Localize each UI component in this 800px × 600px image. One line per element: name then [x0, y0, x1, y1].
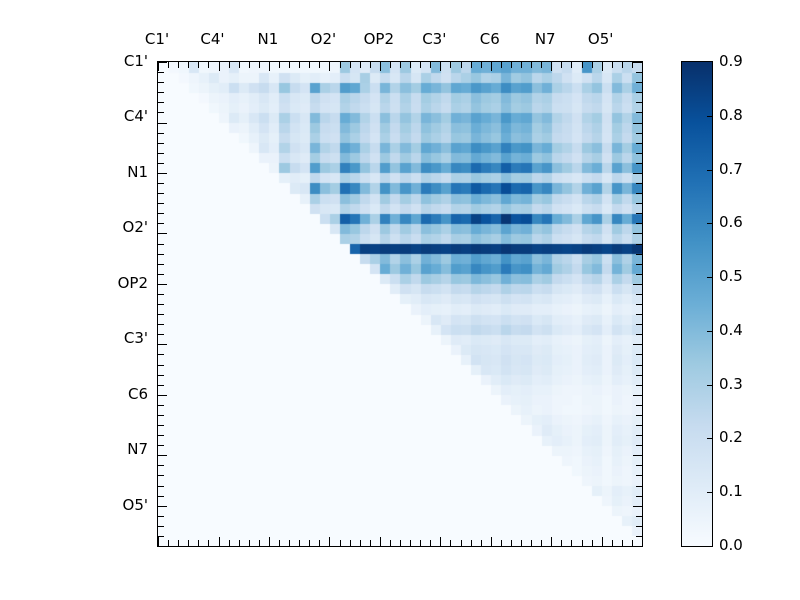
y-tick: [158, 213, 164, 214]
y-tick: [158, 536, 164, 537]
x-tick: [622, 540, 623, 546]
x-tick: [299, 540, 300, 546]
x-tick: [612, 62, 613, 68]
colorbar-tick: [707, 170, 712, 171]
x-tick: [471, 62, 472, 68]
x-tick: [440, 62, 441, 71]
x-tick: [511, 540, 512, 546]
y-tick: [158, 375, 164, 376]
x-tick: [279, 540, 280, 546]
x-tick: [450, 540, 451, 546]
y-tick: [158, 123, 167, 124]
x-tick: [259, 540, 260, 546]
x-tick: [370, 540, 371, 546]
x-tick: [400, 62, 401, 68]
y-tick: [158, 455, 167, 456]
y-tick: [158, 92, 164, 93]
y-tick: [158, 294, 164, 295]
x-tick: [380, 62, 381, 71]
x-tick: [158, 62, 159, 71]
x-tick: [592, 540, 593, 546]
colorbar-tick-label: 0.0: [719, 536, 743, 554]
colorbar-tick: [707, 223, 712, 224]
x-tick: [208, 540, 209, 546]
x-tick: [461, 540, 462, 546]
y-tick: [158, 415, 164, 416]
y-tick: [633, 344, 642, 345]
y-tick: [636, 133, 642, 134]
x-tick: [622, 62, 623, 68]
y-tick: [636, 405, 642, 406]
x-tick: [178, 540, 179, 546]
y-tick: [633, 455, 642, 456]
y-tick: [636, 112, 642, 113]
x-tick: [360, 540, 361, 546]
heatmap-figure: C1'C4'N1O2'OP2C3'C6N7O5' C1'C4'N1O2'OP2C…: [0, 0, 800, 600]
x-tick: [461, 62, 462, 68]
x-tick: [571, 62, 572, 68]
colorbar-tick-label: 0.3: [719, 375, 743, 393]
y-tick: [158, 365, 164, 366]
y-tick: [636, 72, 642, 73]
y-tick: [158, 244, 164, 245]
y-tick: [158, 465, 164, 466]
x-tick: [360, 62, 361, 68]
y-tick: [636, 334, 642, 335]
y-tick: [158, 385, 164, 386]
y-tick: [158, 133, 164, 134]
y-tick: [636, 304, 642, 305]
y-tick: [158, 143, 164, 144]
x-tick: [582, 540, 583, 546]
x-tick-label: O2': [311, 30, 336, 48]
y-tick: [158, 516, 164, 517]
x-tick: [350, 540, 351, 546]
y-tick: [158, 274, 164, 275]
x-tick: [188, 540, 189, 546]
x-tick: [289, 540, 290, 546]
y-tick: [158, 72, 164, 73]
x-tick: [309, 540, 310, 546]
x-tick: [198, 62, 199, 68]
y-tick: [636, 143, 642, 144]
x-tick: [602, 537, 603, 546]
x-tick: [602, 62, 603, 71]
x-tick: [259, 62, 260, 68]
y-tick: [636, 102, 642, 103]
colorbar-tick-label: 0.2: [719, 428, 743, 446]
y-tick: [636, 375, 642, 376]
y-tick: [636, 203, 642, 204]
y-tick: [633, 233, 642, 234]
y-tick: [636, 254, 642, 255]
y-tick: [158, 304, 164, 305]
x-tick: [551, 62, 552, 71]
x-tick: [390, 540, 391, 546]
y-tick: [633, 284, 642, 285]
y-tick: [636, 486, 642, 487]
x-tick: [229, 540, 230, 546]
x-tick-label: N1: [258, 30, 279, 48]
y-tick: [636, 425, 642, 426]
y-tick: [158, 425, 164, 426]
x-tick: [239, 62, 240, 68]
heatmap-axes[interactable]: [157, 61, 643, 547]
y-tick: [636, 526, 642, 527]
x-tick: [239, 540, 240, 546]
y-tick: [158, 102, 164, 103]
y-tick: [636, 385, 642, 386]
y-tick-label: N7: [127, 440, 148, 458]
y-tick: [158, 405, 164, 406]
colorbar-tick-label: 0.9: [719, 52, 743, 70]
y-tick: [158, 82, 164, 83]
y-tick: [636, 314, 642, 315]
y-tick: [636, 496, 642, 497]
y-tick: [636, 193, 642, 194]
x-tick: [531, 540, 532, 546]
x-tick: [511, 62, 512, 68]
x-tick: [642, 62, 643, 68]
x-tick: [249, 62, 250, 68]
y-tick: [633, 123, 642, 124]
y-tick-label: C4': [124, 107, 148, 125]
x-tick-label: C3': [422, 30, 446, 48]
x-tick: [229, 62, 230, 68]
y-tick: [633, 506, 642, 507]
x-tick: [400, 540, 401, 546]
y-tick: [158, 173, 167, 174]
x-tick: [168, 540, 169, 546]
colorbar-tick-label: 0.1: [719, 482, 743, 500]
colorbar-tick: [707, 277, 712, 278]
x-tick: [219, 537, 220, 546]
x-tick: [642, 540, 643, 546]
y-tick: [636, 324, 642, 325]
y-tick-label: C3': [124, 329, 148, 347]
y-tick: [636, 415, 642, 416]
colorbar-axes[interactable]: [681, 61, 713, 547]
y-tick: [636, 465, 642, 466]
colorbar-tick-label: 0.5: [719, 267, 743, 285]
x-tick: [350, 62, 351, 68]
x-tick: [521, 62, 522, 68]
x-tick: [561, 62, 562, 68]
x-tick: [269, 62, 270, 71]
x-tick-label: N7: [535, 30, 556, 48]
y-tick: [636, 264, 642, 265]
y-tick: [158, 496, 164, 497]
y-tick-label: O2': [123, 218, 148, 236]
y-tick: [158, 354, 164, 355]
y-tick-label: O5': [123, 496, 148, 514]
colorbar-gradient: [682, 62, 712, 546]
y-tick: [636, 153, 642, 154]
x-tick: [299, 62, 300, 68]
y-tick: [158, 445, 164, 446]
x-tick: [501, 540, 502, 546]
y-tick: [158, 314, 164, 315]
y-tick: [158, 254, 164, 255]
x-tick-label: C4': [200, 30, 224, 48]
x-tick: [329, 537, 330, 546]
x-tick: [219, 62, 220, 71]
x-tick: [178, 62, 179, 68]
x-tick-label: C1': [145, 30, 169, 48]
colorbar-tick-label: 0.7: [719, 160, 743, 178]
y-tick: [636, 92, 642, 93]
y-tick: [158, 233, 167, 234]
x-tick: [471, 540, 472, 546]
x-tick-label: O5': [588, 30, 613, 48]
x-tick: [269, 537, 270, 546]
x-tick: [188, 62, 189, 68]
x-tick: [319, 62, 320, 68]
y-tick: [636, 546, 642, 547]
y-tick: [636, 435, 642, 436]
y-tick: [158, 223, 164, 224]
y-tick: [636, 536, 642, 537]
y-tick-label: C6: [128, 385, 148, 403]
colorbar-tick: [707, 438, 712, 439]
x-tick: [390, 62, 391, 68]
x-tick: [329, 62, 330, 71]
colorbar-tick-label: 0.4: [719, 321, 743, 339]
colorbar-tick: [707, 331, 712, 332]
y-tick: [158, 284, 167, 285]
x-tick: [541, 540, 542, 546]
x-tick: [501, 62, 502, 68]
x-tick: [380, 537, 381, 546]
x-tick: [340, 540, 341, 546]
y-tick: [636, 244, 642, 245]
y-tick: [158, 62, 167, 63]
y-tick: [636, 475, 642, 476]
x-tick: [551, 537, 552, 546]
y-tick-label: C1': [124, 52, 148, 70]
y-tick-label: N1: [127, 163, 148, 181]
y-tick: [636, 82, 642, 83]
colorbar-tick-label: 0.8: [719, 106, 743, 124]
y-tick: [158, 546, 164, 547]
x-tick: [249, 540, 250, 546]
y-tick: [158, 153, 164, 154]
x-tick-label: OP2: [364, 30, 394, 48]
x-tick: [430, 540, 431, 546]
y-tick: [636, 516, 642, 517]
y-tick: [158, 526, 164, 527]
y-tick: [158, 395, 167, 396]
y-tick: [636, 365, 642, 366]
y-tick: [158, 324, 164, 325]
heatmap-canvas[interactable]: [158, 62, 642, 546]
y-tick: [636, 445, 642, 446]
x-tick: [561, 540, 562, 546]
y-tick: [158, 183, 164, 184]
x-tick: [198, 540, 199, 546]
x-tick: [410, 540, 411, 546]
y-tick: [158, 163, 164, 164]
x-tick: [571, 540, 572, 546]
y-tick: [158, 264, 164, 265]
y-tick: [636, 294, 642, 295]
x-tick: [531, 62, 532, 68]
x-tick: [340, 62, 341, 68]
x-tick: [319, 540, 320, 546]
y-tick: [636, 223, 642, 224]
y-tick: [158, 506, 167, 507]
y-tick-label: OP2: [118, 274, 148, 292]
x-tick: [168, 62, 169, 68]
colorbar-tick: [707, 116, 712, 117]
y-tick: [633, 395, 642, 396]
x-tick: [491, 62, 492, 71]
y-tick: [636, 163, 642, 164]
y-tick: [158, 475, 164, 476]
x-tick: [612, 540, 613, 546]
x-tick: [370, 62, 371, 68]
x-tick: [592, 62, 593, 68]
y-tick: [633, 62, 642, 63]
x-tick: [158, 537, 159, 546]
x-tick: [582, 62, 583, 68]
x-tick: [279, 62, 280, 68]
y-tick: [636, 274, 642, 275]
x-tick: [420, 62, 421, 68]
y-tick: [158, 435, 164, 436]
x-tick: [208, 62, 209, 68]
y-tick: [158, 344, 167, 345]
x-tick: [420, 540, 421, 546]
x-tick: [440, 537, 441, 546]
y-tick: [636, 354, 642, 355]
x-tick: [450, 62, 451, 68]
x-tick: [541, 62, 542, 68]
colorbar-tick-label: 0.6: [719, 213, 743, 231]
y-tick: [633, 173, 642, 174]
y-tick: [158, 193, 164, 194]
x-tick: [481, 62, 482, 68]
y-tick: [636, 183, 642, 184]
x-tick: [491, 537, 492, 546]
y-tick: [158, 486, 164, 487]
x-tick: [309, 62, 310, 68]
y-tick: [158, 112, 164, 113]
y-tick: [158, 334, 164, 335]
x-tick: [521, 540, 522, 546]
colorbar-tick: [707, 385, 712, 386]
y-tick: [636, 213, 642, 214]
x-tick: [481, 540, 482, 546]
x-tick-label: C6: [480, 30, 500, 48]
x-tick: [410, 62, 411, 68]
x-tick: [430, 62, 431, 68]
x-tick: [289, 62, 290, 68]
y-tick: [158, 203, 164, 204]
colorbar-tick: [707, 492, 712, 493]
x-tick: [632, 540, 633, 546]
